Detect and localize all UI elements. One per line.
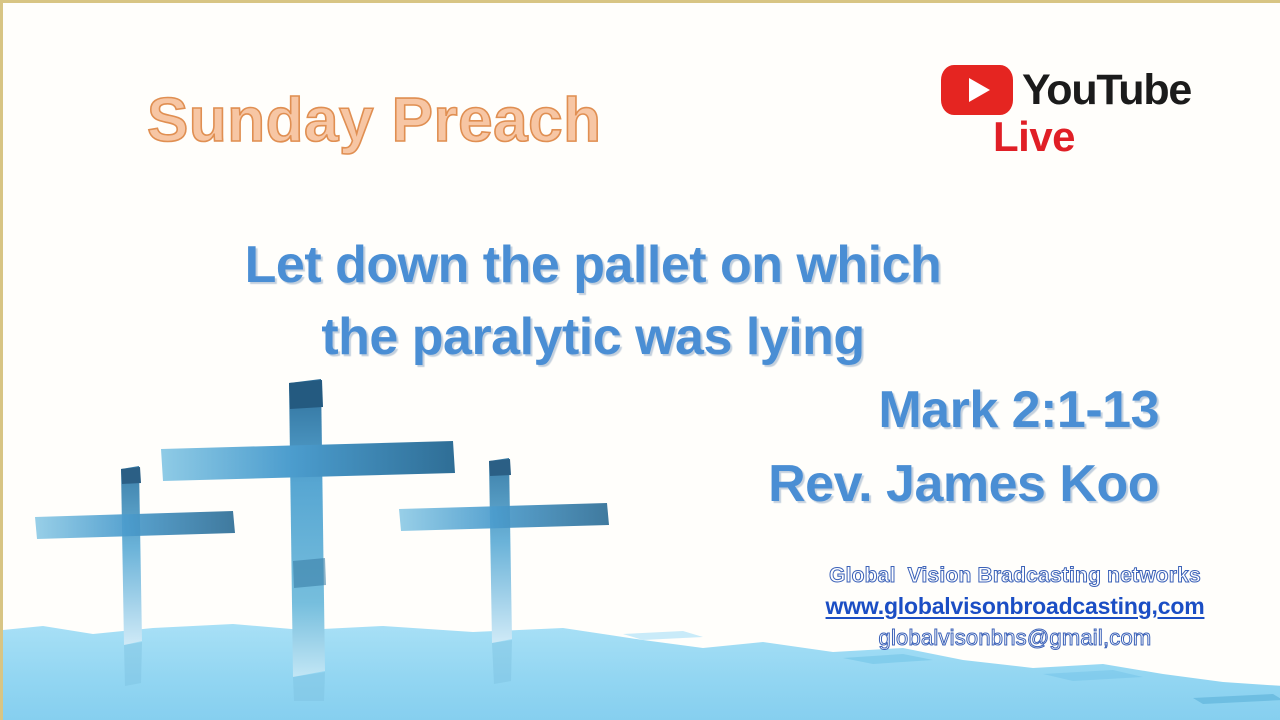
sermon-title-line-2: the paralytic was lying [3,301,1183,373]
youtube-wordmark: YouTube [1022,69,1191,112]
sermon-message: Let down the pallet on which the paralyt… [3,229,1183,521]
youtube-play-icon [941,65,1013,115]
network-name: Global Vision Bradcasting networks [800,561,1230,591]
youtube-live-label: Live [993,116,1151,158]
email-address[interactable]: globalvisonbns@gmail,com [800,622,1230,654]
sunday-preach-slide: Sunday Preach YouTube Live Let down the … [0,0,1280,720]
website-link[interactable]: www.globalvisonbroadcasting,com [800,591,1230,622]
contact-block: Global Vision Bradcasting networks www.g… [800,561,1230,654]
scripture-reference: Mark 2:1-13 [3,373,1183,447]
youtube-live-badge[interactable]: YouTube Live [941,65,1151,158]
youtube-wordmark-row: YouTube [941,65,1151,115]
sermon-title-line-1: Let down the pallet on which [3,229,1183,301]
page-title: Sunday Preach [147,85,601,156]
speaker-name: Rev. James Koo [3,447,1183,521]
